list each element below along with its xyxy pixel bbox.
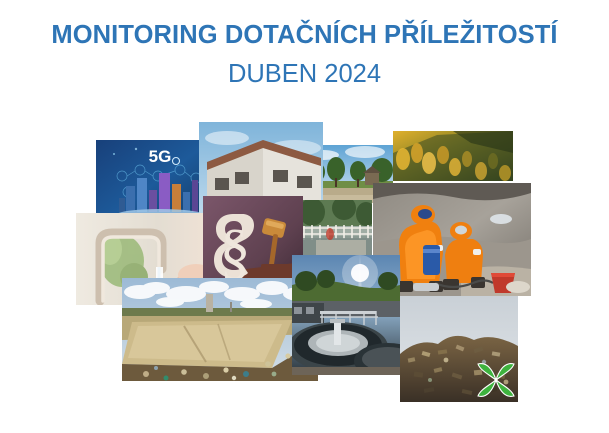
photo-caption-5g: 5G <box>149 147 172 166</box>
green-leaf-logo <box>474 358 518 402</box>
photo-caption-paragraph: § <box>220 218 251 286</box>
photo-autumn-forest <box>393 131 513 181</box>
page-title: MONITORING DOTAČNÍCH PŘÍLEŽITOSTÍ <box>0 21 609 50</box>
page-title-block: MONITORING DOTAČNÍCH PŘÍLEŽITOSTÍ DUBEN … <box>0 0 609 90</box>
photo-landfill-site <box>122 278 318 381</box>
photo-flood-street <box>300 200 372 258</box>
photo-wastewater-treatment <box>292 255 400 375</box>
page-subtitle: DUBEN 2024 <box>0 60 609 89</box>
